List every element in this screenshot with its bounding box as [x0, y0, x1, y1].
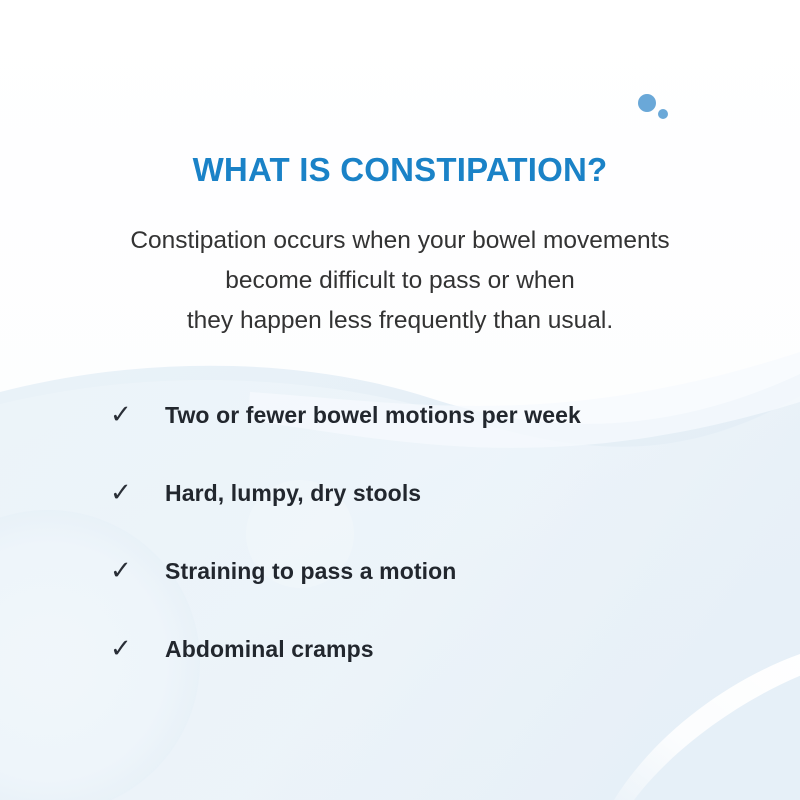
- symptom-label: Two or fewer bowel motions per week: [165, 398, 581, 432]
- infographic-slide: WHAT IS CONSTIPATION? Constipation occur…: [0, 0, 800, 800]
- content-layer: WHAT IS CONSTIPATION? Constipation occur…: [0, 0, 800, 800]
- checkmark-icon: ✓: [110, 398, 144, 432]
- symptom-label: Straining to pass a motion: [165, 554, 456, 588]
- intro-paragraph: Constipation occurs when your bowel move…: [40, 221, 760, 341]
- intro-line-1: Constipation occurs when your bowel move…: [40, 221, 760, 261]
- symptom-label: Hard, lumpy, dry stools: [165, 476, 421, 510]
- checkmark-icon: ✓: [110, 554, 144, 588]
- intro-line-3: they happen less frequently than usual.: [40, 301, 760, 341]
- symptom-label: Abdominal cramps: [165, 632, 374, 666]
- list-item: ✓ Abdominal cramps: [0, 632, 800, 710]
- intro-line-2: become difficult to pass or when: [40, 261, 760, 301]
- list-item: ✓ Hard, lumpy, dry stools: [0, 476, 800, 554]
- list-item: ✓ Straining to pass a motion: [0, 554, 800, 632]
- checkmark-icon: ✓: [110, 632, 144, 666]
- symptom-list: ✓ Two or fewer bowel motions per week ✓ …: [0, 398, 800, 710]
- checkmark-icon: ✓: [110, 476, 144, 510]
- list-item: ✓ Two or fewer bowel motions per week: [0, 398, 800, 476]
- page-title: WHAT IS CONSTIPATION?: [0, 148, 800, 192]
